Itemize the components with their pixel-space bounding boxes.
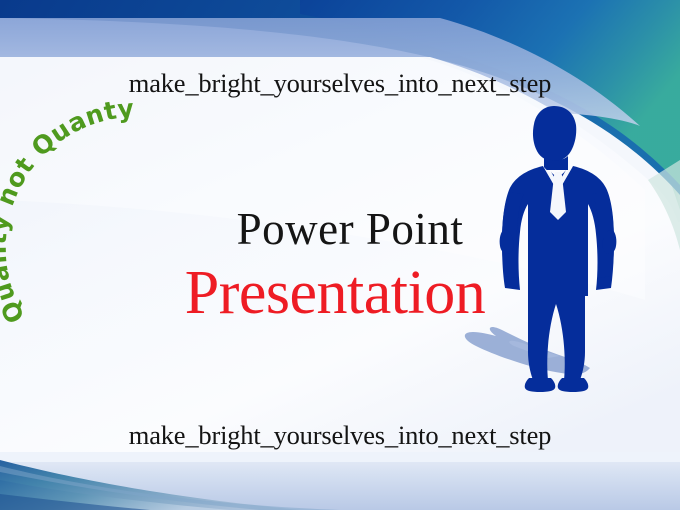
banner-text-bottom: make_bright_yourselves_into_next_step <box>0 420 680 451</box>
businessman-silhouette-icon <box>440 100 670 400</box>
banner-text-top: make_bright_yourselves_into_next_step <box>0 68 680 99</box>
businessman-figure <box>440 100 670 400</box>
slide-content: make_bright_yourselves_into_next_step Qu… <box>0 0 680 510</box>
powerpoint-title-slide: make_bright_yourselves_into_next_step Qu… <box>0 0 680 510</box>
